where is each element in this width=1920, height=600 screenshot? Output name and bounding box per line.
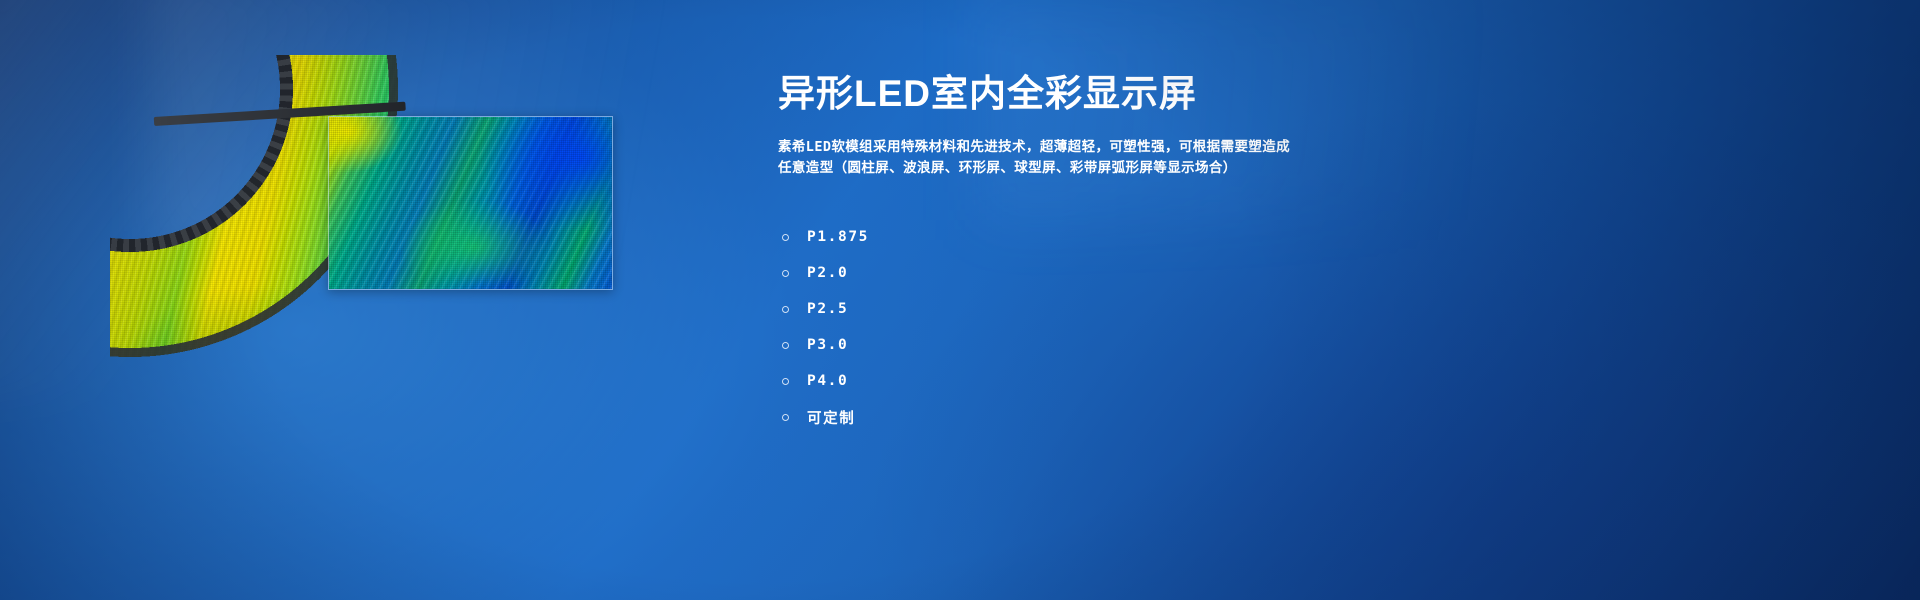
list-item[interactable]: P2.5 (778, 291, 1838, 327)
list-item[interactable]: P1.875 (778, 219, 1838, 255)
product-banner: 异形LED室内全彩显示屏 素希LED软模组采用特殊材料和先进技术，超薄超轻，可塑… (0, 0, 1920, 600)
spec-label: P2.0 (807, 265, 848, 281)
circle-bullet-icon (782, 234, 789, 241)
spec-label: 可定制 (807, 407, 855, 428)
circle-bullet-icon (782, 270, 789, 277)
list-item[interactable]: P3.0 (778, 327, 1838, 363)
description-line-1: 素希LED软模组采用特殊材料和先进技术，超薄超轻，可塑性强，可根据需要塑造成 (778, 137, 1418, 158)
spec-label: P1.875 (807, 229, 869, 245)
banner-content: 异形LED室内全彩显示屏 素希LED软模组采用特殊材料和先进技术，超薄超轻，可塑… (778, 72, 1838, 435)
description-line-2: 任意造型（圆柱屏、波浪屏、环形屏、球型屏、彩带屏弧形屏等显示场合） (778, 158, 1418, 179)
spec-label: P3.0 (807, 337, 848, 353)
circle-bullet-icon (782, 378, 789, 385)
page-title: 异形LED室内全彩显示屏 (778, 72, 1838, 116)
led-pixel-closeup-screen (328, 116, 613, 290)
circle-bullet-icon (782, 306, 789, 313)
list-item[interactable]: P2.0 (778, 255, 1838, 291)
list-item[interactable]: P4.0 (778, 363, 1838, 399)
spec-label: P4.0 (807, 373, 848, 389)
pixel-pitch-list: P1.875 P2.0 P2.5 P3.0 P4.0 可定制 (778, 219, 1838, 435)
circle-bullet-icon (782, 342, 789, 349)
list-item[interactable]: 可定制 (778, 399, 1838, 435)
spec-label: P2.5 (807, 301, 848, 317)
banner-description: 素希LED软模组采用特殊材料和先进技术，超薄超轻，可塑性强，可根据需要塑造成 任… (778, 137, 1418, 179)
inset-screen-artwork (329, 117, 612, 289)
circle-bullet-icon (782, 414, 789, 421)
